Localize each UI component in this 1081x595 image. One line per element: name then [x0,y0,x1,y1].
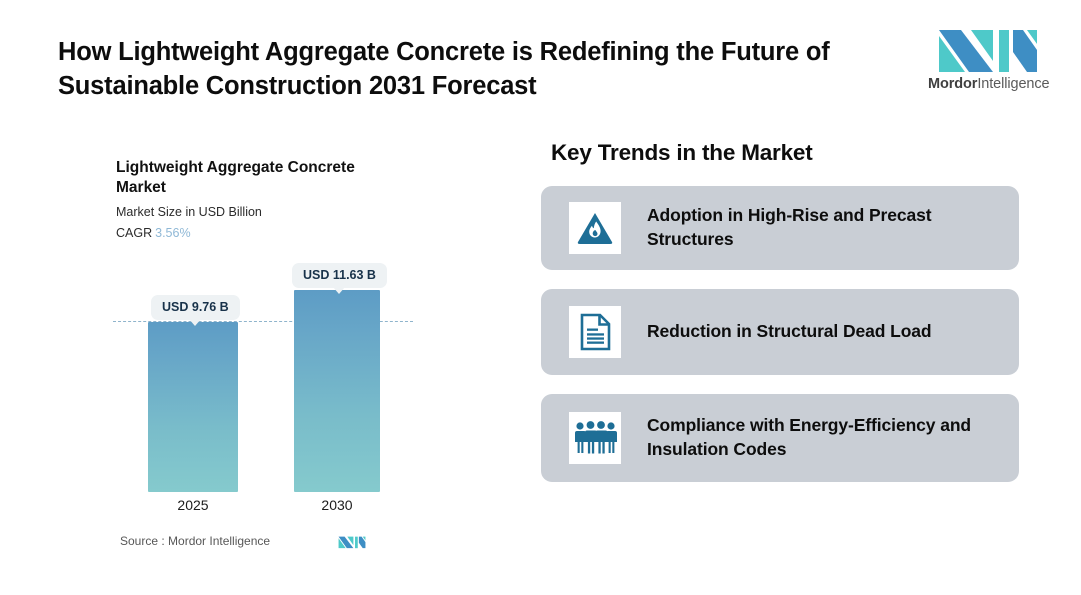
mordor-intelligence-mark-icon [937,16,1039,72]
x-axis-tick-2025: 2025 [133,497,253,513]
source-row: Source : Mordor Intelligence [120,532,420,549]
bar-value-label-2030: USD 11.63 B [292,263,387,288]
brand-wordmark: MordorIntelligence [928,76,1048,92]
chart-panel: Lightweight Aggregate Concrete Market Ma… [0,150,500,570]
trend-card-text: Adoption in High-Rise and Precast Struct… [647,204,1001,251]
x-axis-tick-2030: 2030 [277,497,397,513]
trend-icon-box [569,306,621,358]
page-title: How Lightweight Aggregate Concrete is Re… [58,36,848,104]
mordor-intelligence-small-mark-icon [338,532,366,549]
document-icon [576,312,614,352]
people-group-icon [573,419,617,457]
brand-logo: MordorIntelligence [928,16,1048,92]
bar-value-label-2025: USD 9.76 B [151,295,240,320]
trend-card-text: Compliance with Energy-Efficiency and In… [647,414,1001,461]
trend-card[interactable]: Reduction in Structural Dead Load [541,289,1019,375]
brand-name-light: Intelligence [977,76,1049,92]
flammable-hazard-icon [575,208,615,248]
trend-icon-box [569,202,621,254]
bar-2025 [148,322,238,492]
brand-name-bold: Mordor [928,76,977,92]
bar-chart-plot: USD 9.76 B USD 11.63 B 2025 2030 [0,150,500,570]
source-text: Source : Mordor Intelligence [120,534,270,548]
trend-card[interactable]: Adoption in High-Rise and Precast Struct… [541,186,1019,270]
key-trends-heading: Key Trends in the Market [551,140,1021,166]
trend-icon-box [569,412,621,464]
trend-card[interactable]: Compliance with Energy-Efficiency and In… [541,394,1019,482]
trend-card-text: Reduction in Structural Dead Load [647,320,932,344]
bar-2030 [294,290,380,492]
key-trends-panel: Key Trends in the Market Adoption in Hig… [541,140,1021,501]
